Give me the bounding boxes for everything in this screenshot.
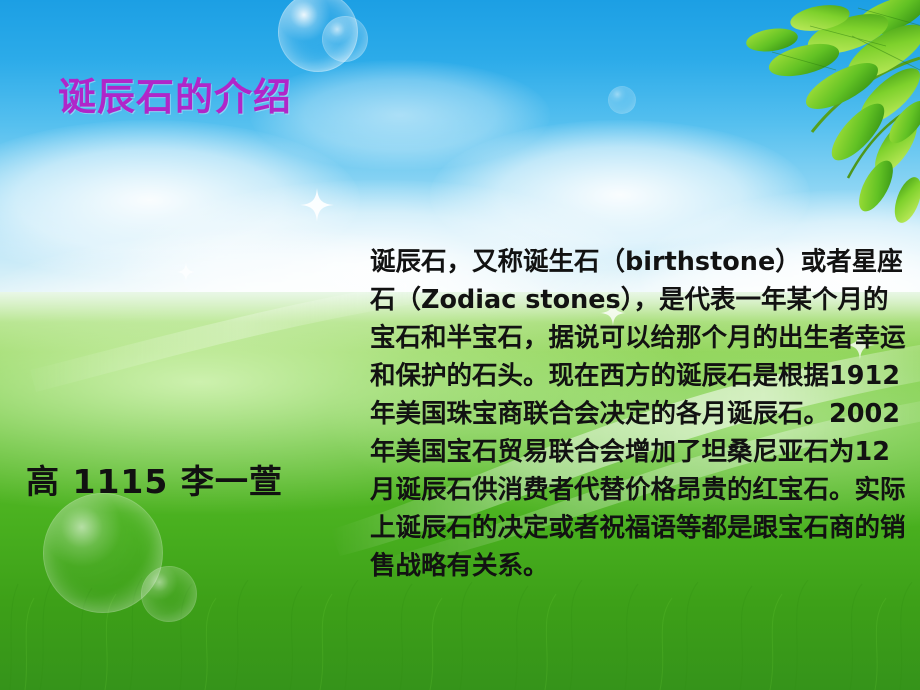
presentation-slide: 诞辰石的介绍 高 1115 李一萱 诞辰石，又称诞生石（birthstone）或… xyxy=(0,0,920,690)
author-label: 高 1115 李一萱 xyxy=(26,455,283,503)
page-title: 诞辰石的介绍 xyxy=(58,66,292,121)
body-paragraph: 诞辰石，又称诞生石（birthstone）或者星座石（Zodiac stones… xyxy=(370,243,910,585)
